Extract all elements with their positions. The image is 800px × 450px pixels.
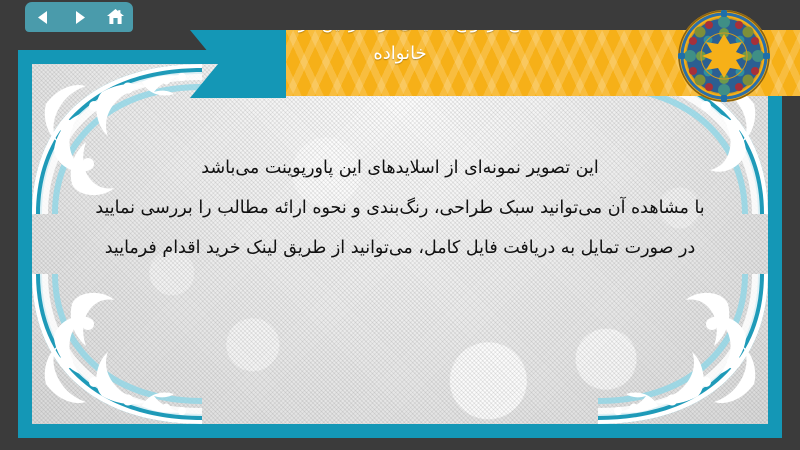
window-chrome-bottom (0, 440, 800, 450)
previous-arrow-icon (35, 9, 52, 26)
next-arrow-icon (71, 9, 88, 26)
body-line-2: با مشاهده آن می‌توانید سبک طراحی، رنگ‌بن… (72, 188, 728, 228)
window-chrome-right (782, 96, 800, 450)
next-slide-button[interactable] (64, 4, 94, 30)
slide-body-text: این تصویر نمونه‌ای از اسلایدهای این پاور… (72, 148, 728, 268)
window-chrome-left (0, 0, 18, 450)
slide-canvas: این تصویر نمونه‌ای از اسلایدهای این پاور… (18, 50, 782, 438)
slide-content-area: این تصویر نمونه‌ای از اسلایدهای این پاور… (32, 64, 768, 424)
islamic-medallion-icon (676, 8, 772, 104)
home-button[interactable] (100, 4, 130, 30)
arabesque-corner-icon (598, 274, 768, 424)
body-line-3: در صورت تمایل به دریافت فایل کامل، می‌تو… (72, 228, 728, 268)
banner-connector-tab (190, 30, 286, 98)
arabesque-corner-icon (32, 274, 202, 424)
previous-slide-button[interactable] (28, 4, 58, 30)
home-icon (106, 8, 125, 26)
body-line-1: این تصویر نمونه‌ای از اسلایدهای این پاور… (72, 148, 728, 188)
slide-viewer: کامل تحلیل حقوقی دلایل اختصاص اختیار فسخ… (0, 0, 800, 450)
slide-navigation-bar (25, 2, 133, 32)
